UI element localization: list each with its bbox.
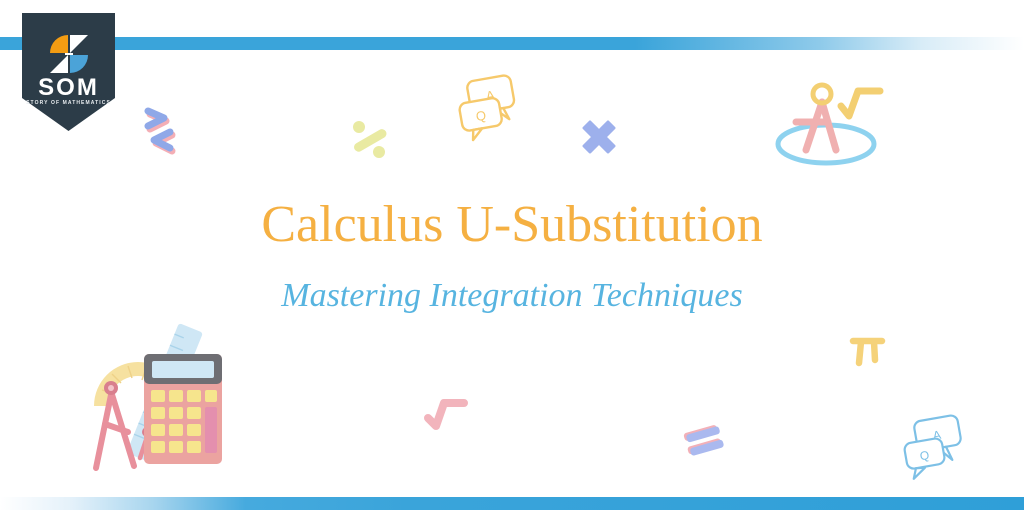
square-root-icon-pink bbox=[424, 396, 470, 434]
page-subtitle: Mastering Integration Techniques bbox=[0, 277, 1024, 314]
top-accent-rule bbox=[0, 37, 1024, 50]
page-title: Calculus U-Substitution bbox=[0, 196, 1024, 253]
qa-speech-bubbles-icon-yellow: A Q bbox=[455, 72, 521, 136]
multiplication-cross-icon bbox=[580, 118, 618, 156]
presentation-slide: SOM STORY OF MATHEMATICS bbox=[0, 0, 1024, 532]
som-logo: SOM STORY OF MATHEMATICS bbox=[22, 13, 115, 131]
logo-wordmark: SOM bbox=[22, 76, 115, 100]
calculator-tools-illustration bbox=[72, 328, 252, 484]
bottom-accent-rule bbox=[0, 497, 1024, 510]
equals-icon bbox=[683, 420, 727, 462]
logo-tagline: STORY OF MATHEMATICS bbox=[22, 101, 115, 106]
greater-less-than-icon bbox=[142, 104, 190, 160]
square-root-icon-yellow bbox=[838, 86, 884, 126]
qa-speech-bubbles-icon-blue: A Q bbox=[900, 412, 970, 478]
division-icon bbox=[350, 118, 390, 162]
pi-icon bbox=[848, 332, 888, 370]
logo-mark-icon bbox=[48, 33, 90, 75]
